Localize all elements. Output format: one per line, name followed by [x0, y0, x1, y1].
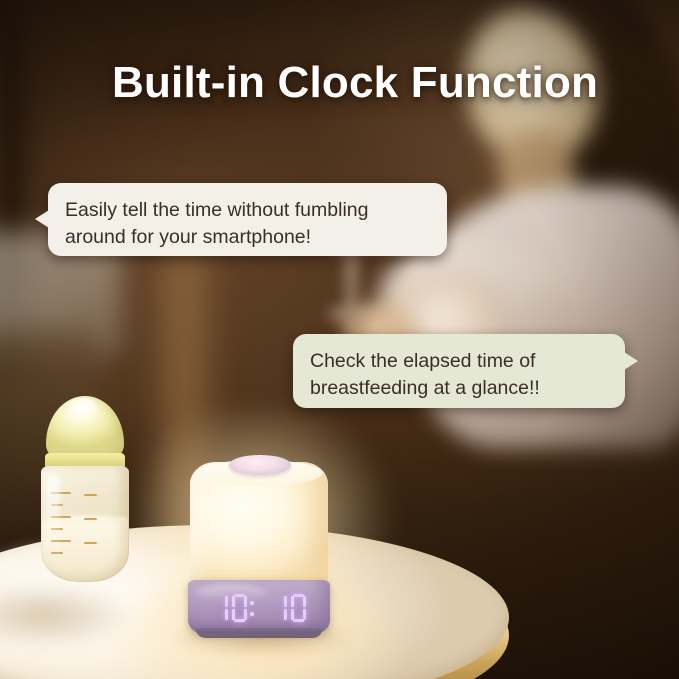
callout-time-line-1: Easily tell the time without fumbling — [65, 197, 430, 224]
night-light-lamp — [186, 452, 332, 638]
bottle-nipple-highlight — [69, 398, 97, 422]
callout-bubble-time: Easily tell the time without fumbling ar… — [48, 183, 447, 256]
clock-digit-minute-ones — [290, 594, 304, 622]
callout-elapsed-line-1: Check the elapsed time of — [310, 348, 608, 375]
clock-display — [212, 593, 304, 623]
power-button-icon[interactable] — [229, 455, 291, 475]
baby-bottle — [33, 396, 137, 582]
clock-colon-icon — [250, 594, 254, 622]
product-marketing-image: Built-in Clock Function Easily tell the … — [0, 0, 679, 679]
page-title: Built-in Clock Function — [112, 58, 598, 108]
clock-digit-hour-ones — [231, 594, 245, 622]
callout-elapsed-line-2: breastfeeding at a glance!! — [310, 375, 608, 402]
clock-digit-minute-tens — [271, 594, 285, 622]
callout-time-line-2: around for your smartphone! — [65, 224, 430, 251]
bottle-highlight — [47, 474, 60, 568]
clock-digit-hour-tens — [212, 594, 226, 622]
callout-bubble-elapsed: Check the elapsed time of breastfeeding … — [293, 334, 625, 408]
lamp-foot — [196, 628, 322, 638]
